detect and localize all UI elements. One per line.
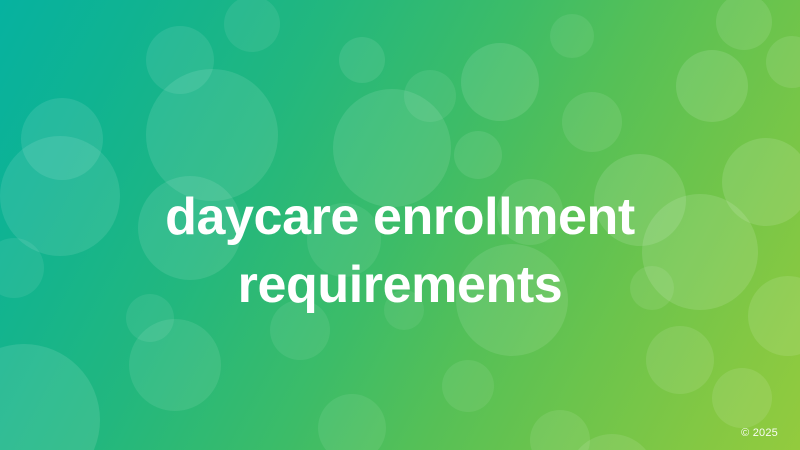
slide-headline: daycare enrollment requirements bbox=[0, 183, 800, 320]
copyright-notice: © 2025 bbox=[741, 427, 778, 439]
title-slide: daycare enrollment requirements © 2025 bbox=[0, 0, 800, 450]
